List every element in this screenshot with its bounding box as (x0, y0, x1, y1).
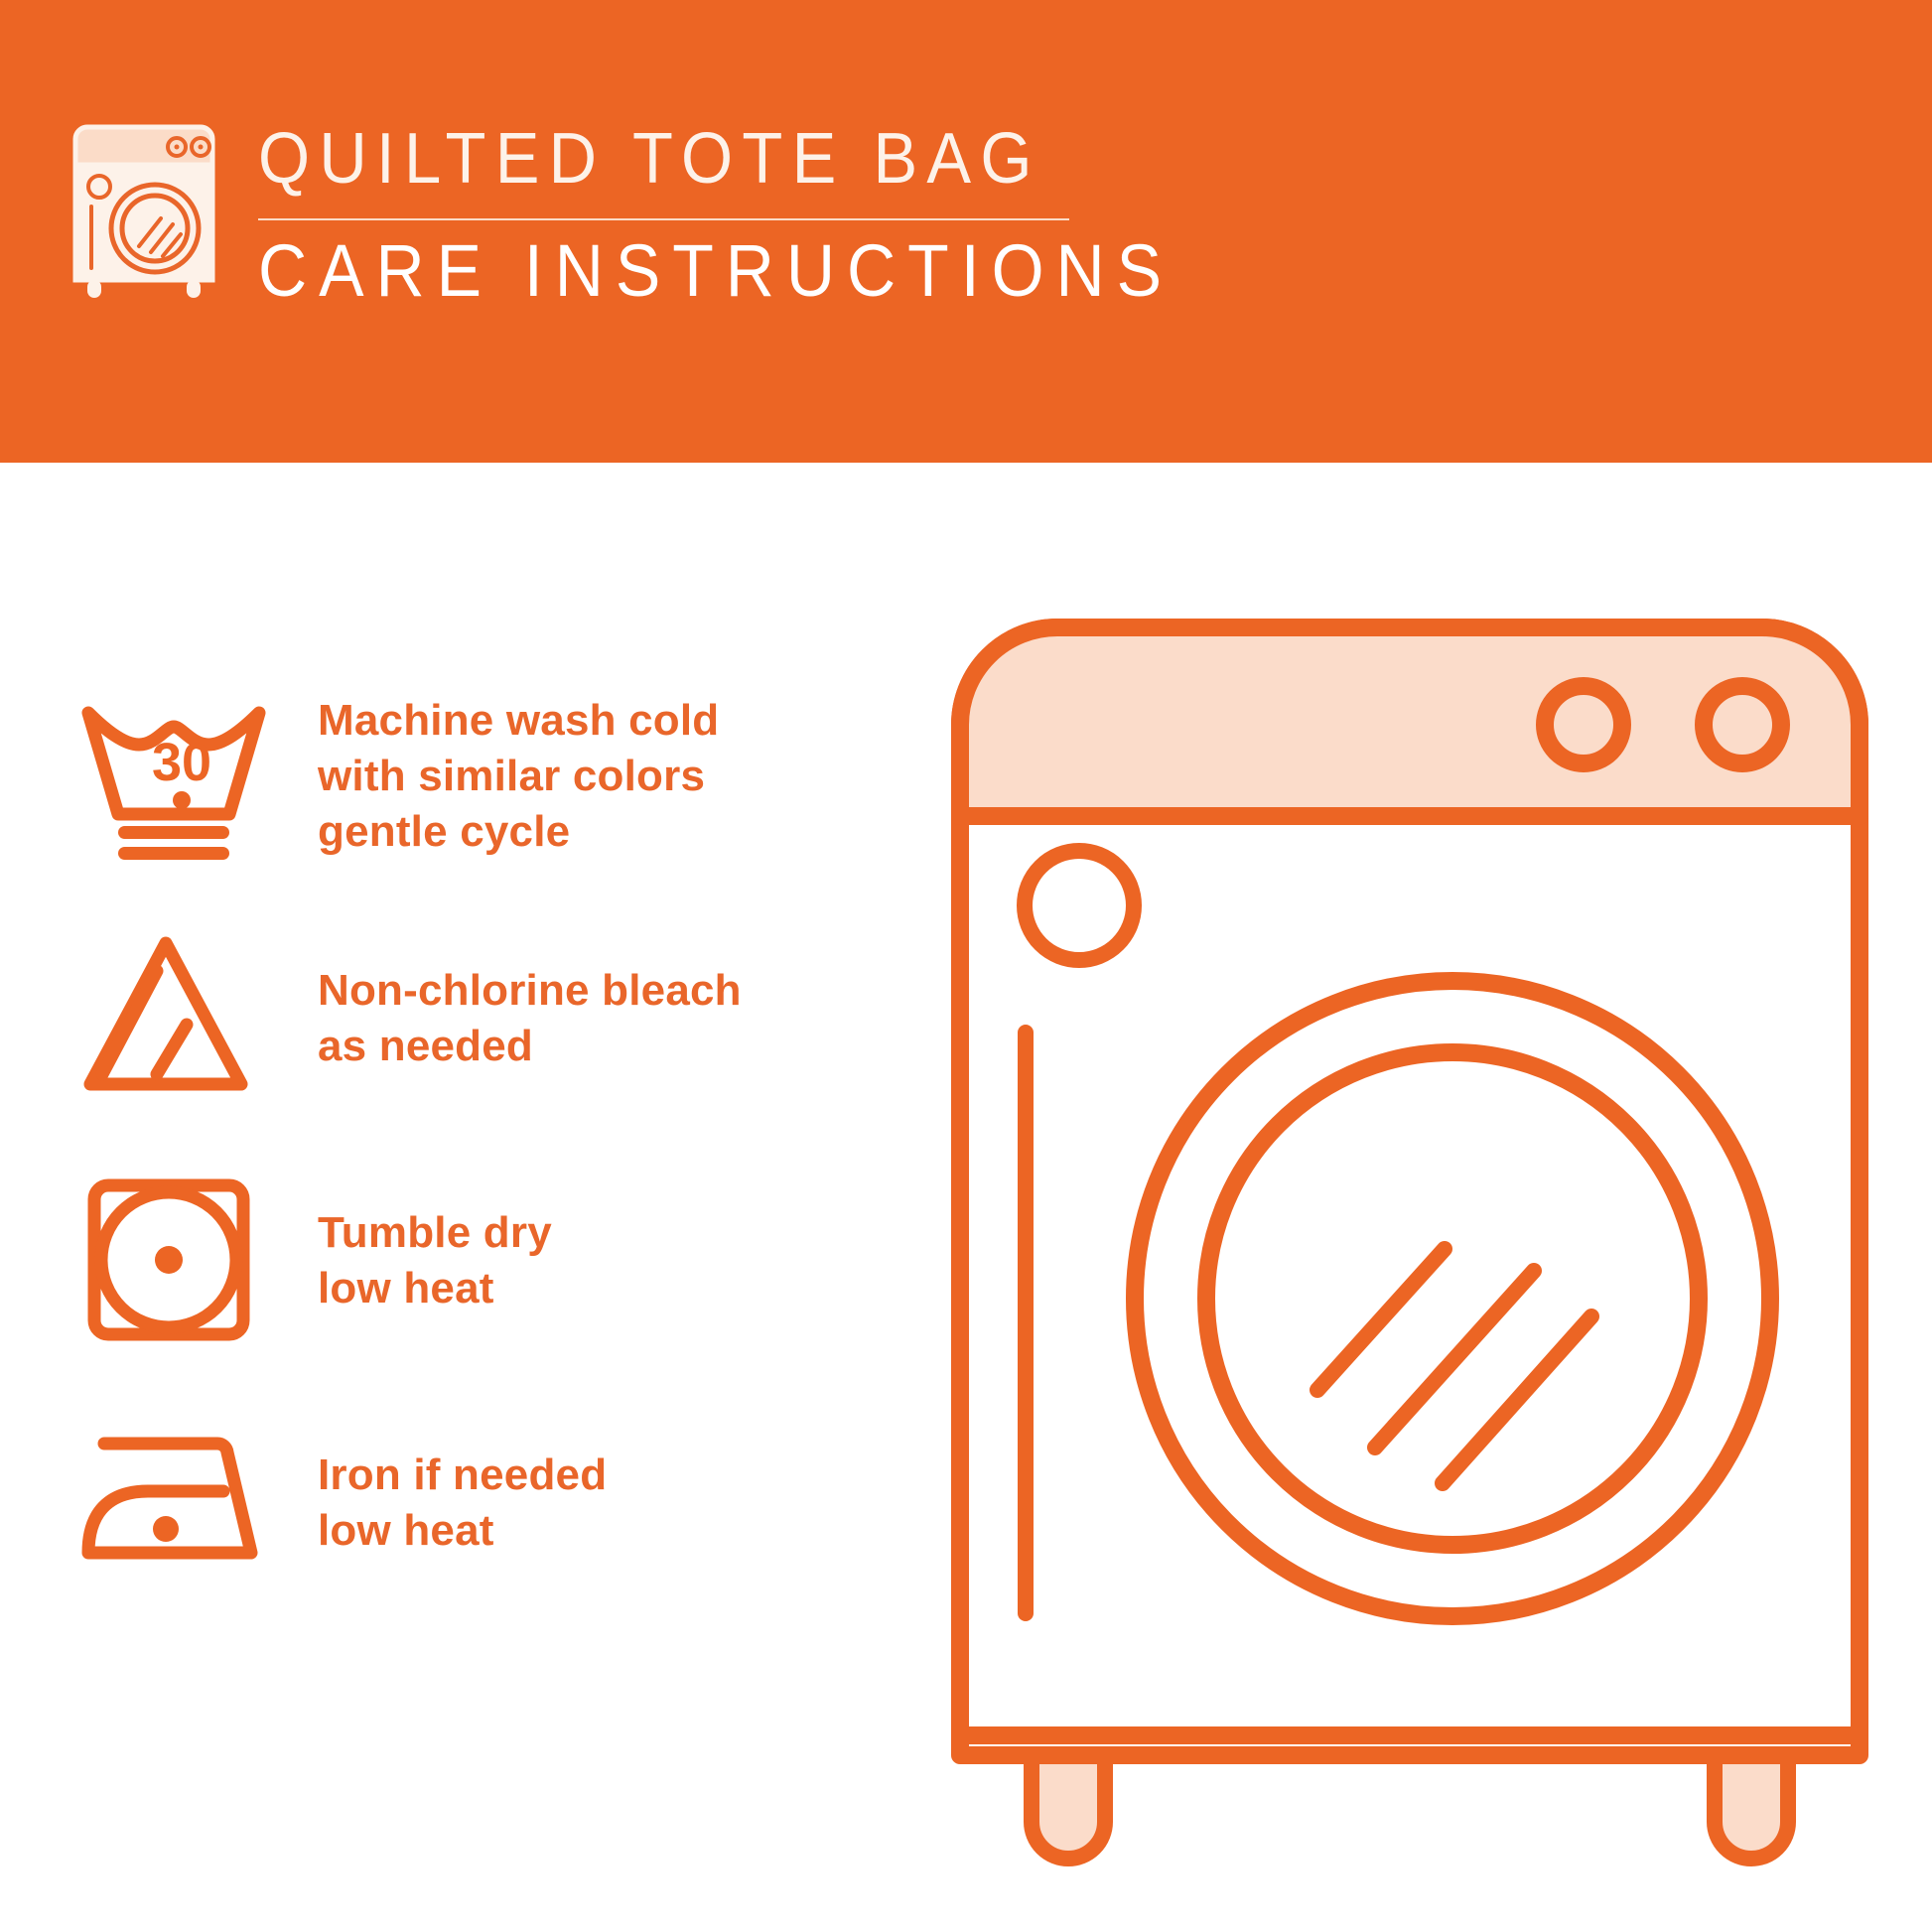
title-divider (258, 218, 1069, 220)
iron-low-heat-icon (69, 1409, 278, 1597)
care-item-wash-text: Machine wash cold with similar colors ge… (318, 693, 719, 860)
care-text-line: Tumble dry (318, 1205, 552, 1261)
header-banner: QUILTED TOTE BAG CARE INSTRUCTIONS (0, 0, 1932, 463)
header-content: QUILTED TOTE BAG CARE INSTRUCTIONS (69, 119, 1253, 308)
care-item-bleach: Non-chlorine bleach as needed (69, 897, 844, 1140)
title-block: QUILTED TOTE BAG CARE INSTRUCTIONS (258, 119, 1253, 308)
machine-knob-right[interactable] (1704, 686, 1781, 763)
care-text-line: as needed (318, 1019, 742, 1074)
care-item-tumble-dry-text: Tumble dry low heat (318, 1205, 552, 1316)
tumble-dry-low-heat-icon (69, 1167, 278, 1355)
care-item-bleach-text: Non-chlorine bleach as needed (318, 963, 742, 1074)
page-subtitle: CARE INSTRUCTIONS (258, 234, 1173, 308)
care-text-line: low heat (318, 1261, 552, 1316)
care-text-line: low heat (318, 1503, 607, 1559)
care-text-line: Machine wash cold (318, 693, 719, 749)
care-text-line: gentle cycle (318, 804, 719, 860)
care-symbol-list: 30 Machine wash cold with similar colors… (69, 655, 844, 1624)
bleach-triangle-non-chlorine-icon (69, 924, 278, 1113)
care-item-tumble-dry: Tumble dry low heat (69, 1140, 844, 1382)
wash-tub-30-gentle-icon: 30 (69, 682, 278, 871)
washing-machine-logo-icon (69, 119, 218, 303)
care-item-iron: Iron if needed low heat (69, 1382, 844, 1624)
page-title: QUILTED TOTE BAG (258, 123, 1183, 195)
care-text-line: Non-chlorine bleach (318, 963, 742, 1019)
care-text-line: Iron if needed (318, 1448, 607, 1503)
washing-machine-illustration (948, 616, 1871, 1866)
care-item-wash: 30 Machine wash cold with similar colors… (69, 655, 844, 897)
wash-temperature-label: 30 (152, 733, 211, 792)
care-text-line: with similar colors (318, 749, 719, 804)
machine-knob-left[interactable] (1545, 686, 1622, 763)
care-item-iron-text: Iron if needed low heat (318, 1448, 607, 1559)
